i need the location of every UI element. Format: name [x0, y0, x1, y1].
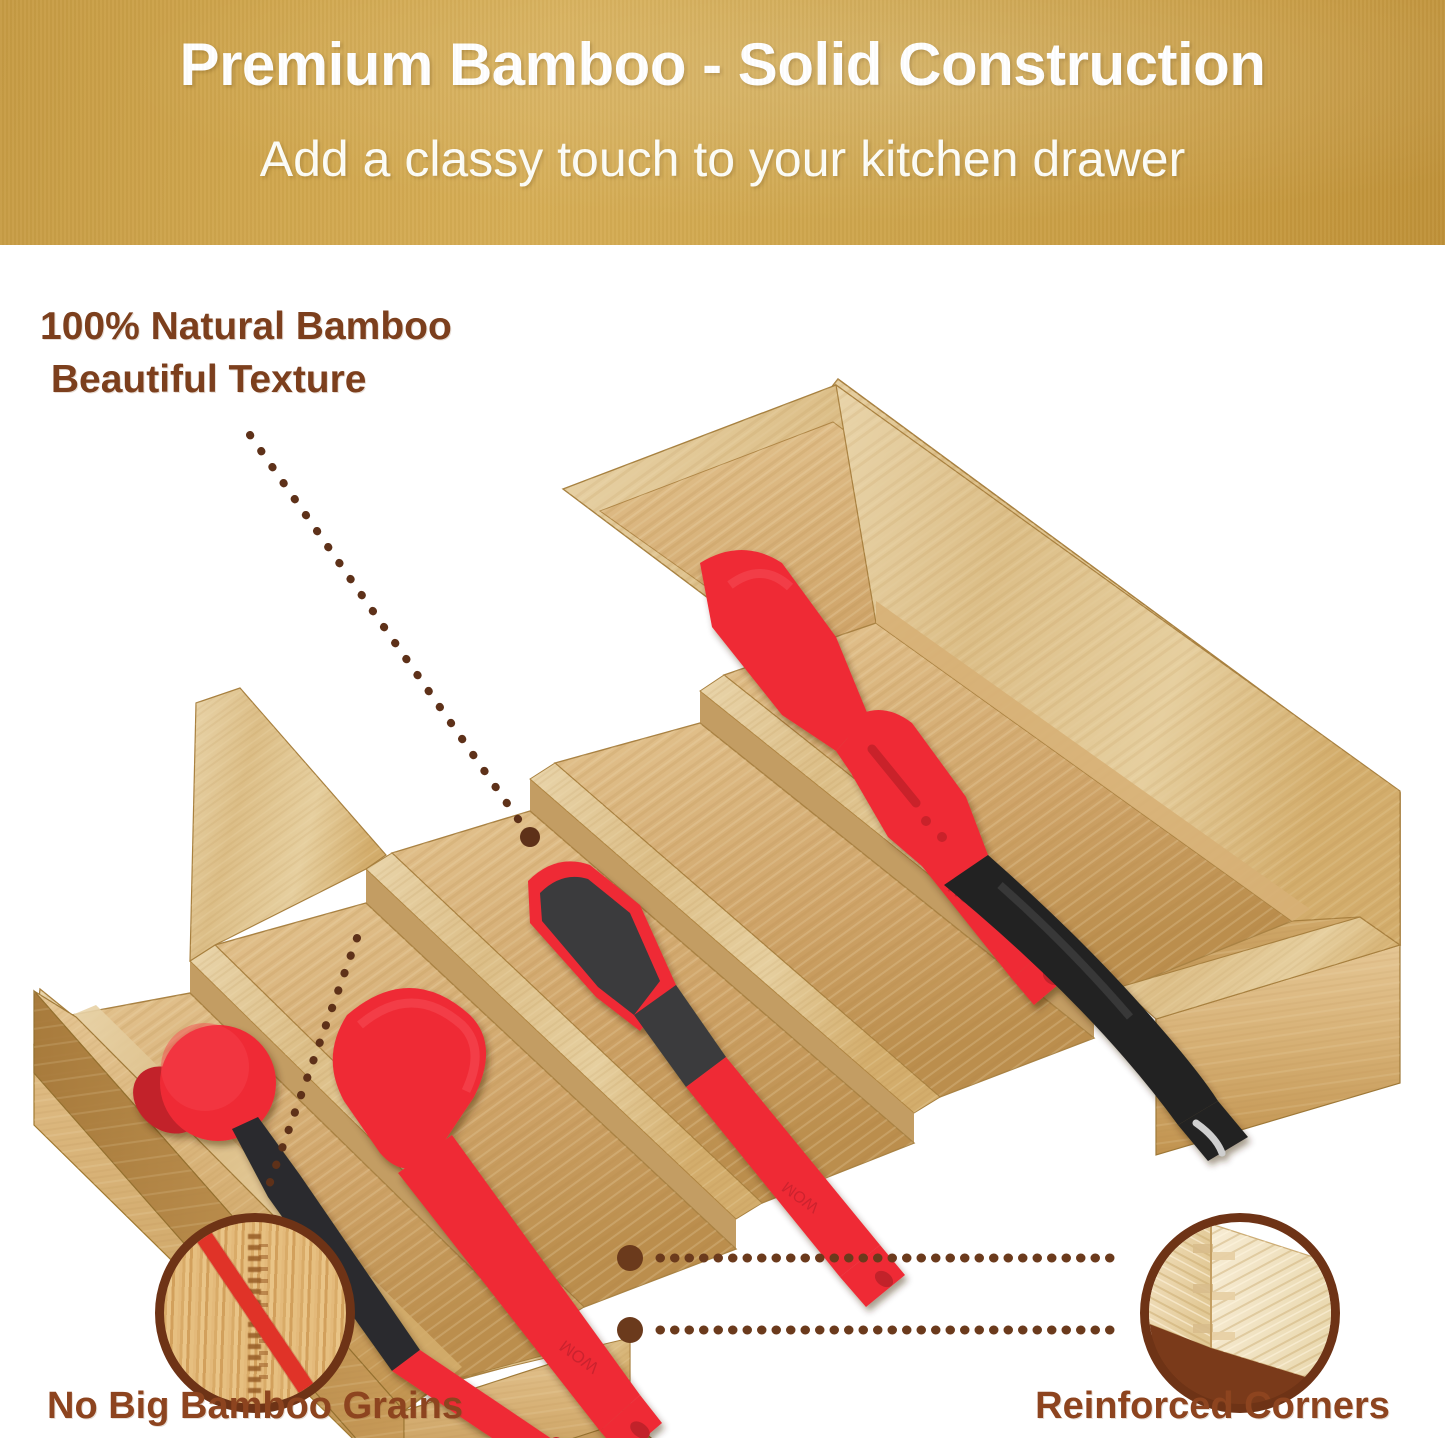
- corner-joint-illustration: [1149, 1222, 1331, 1404]
- tray-inner-sliding-box: [196, 691, 236, 945]
- leader-corner-lower: [617, 1317, 1118, 1343]
- no-big-bamboo-grains-inset: [155, 1213, 355, 1413]
- reinforced-corners-inset: [1140, 1213, 1340, 1413]
- label-reinforced-corners: Reinforced Corners: [980, 1385, 1445, 1428]
- header-banner: Premium Bamboo - Solid Construction Add …: [0, 0, 1445, 245]
- banner-title: Premium Bamboo - Solid Construction: [0, 30, 1445, 99]
- label-no-big-bamboo-grains: No Big Bamboo Grains: [0, 1385, 510, 1428]
- banner-subtitle: Add a classy touch to your kitchen drawe…: [0, 130, 1445, 188]
